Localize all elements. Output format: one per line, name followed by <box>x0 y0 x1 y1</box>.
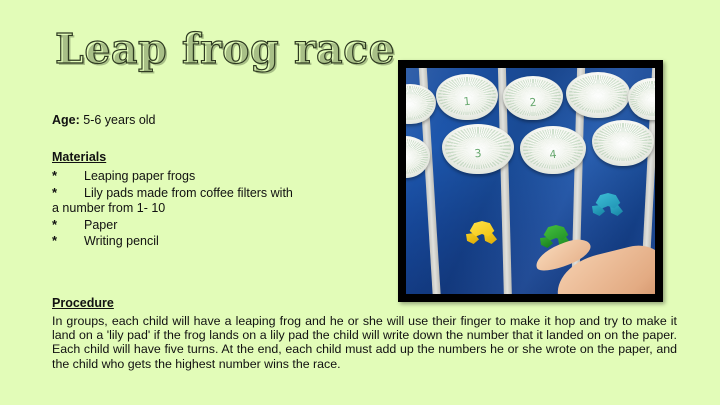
lily-pad-number: 2 <box>503 93 563 112</box>
list-item: * Lily pads made from coffee filters wit… <box>52 186 382 217</box>
content-column: Age: 5-6 years old Materials * Leaping p… <box>52 112 382 251</box>
age-label: Age: <box>52 113 80 127</box>
activity-photo: 1 2 3 4 <box>406 68 655 294</box>
list-item-text: Lily pads made from coffee filters with <box>84 186 293 200</box>
bullet-icon: * <box>52 233 57 249</box>
lily-pad-number: 1 <box>436 92 498 111</box>
list-item-text: Writing pencil <box>84 234 159 248</box>
lily-pad: 4 <box>520 126 586 174</box>
list-item: * Leaping paper frogs <box>52 169 382 185</box>
lily-pad: 3 <box>442 124 514 174</box>
list-item-text: Paper <box>84 218 117 232</box>
lily-pad: 1 <box>436 74 498 120</box>
age-line: Age: 5-6 years old <box>52 112 382 128</box>
lily-pad <box>566 72 630 118</box>
lily-pad: 2 <box>503 76 563 120</box>
lily-pad-number: 3 <box>442 143 514 163</box>
bullet-icon: * <box>52 168 57 184</box>
materials-list: * Leaping paper frogs * Lily pads made f… <box>52 169 382 250</box>
bullet-icon: * <box>52 185 57 201</box>
age-value: 5-6 years old <box>80 113 156 127</box>
list-item: * Paper <box>52 218 382 234</box>
procedure-section: Procedure In groups, each child will hav… <box>52 296 677 371</box>
bullet-icon: * <box>52 217 57 233</box>
paper-frog-blue <box>592 192 626 218</box>
paper-frog-yellow <box>466 220 500 246</box>
photo-frame: 1 2 3 4 <box>398 60 663 302</box>
lily-pad-number: 4 <box>520 145 586 165</box>
materials-heading: Materials <box>52 150 382 165</box>
procedure-text: In groups, each child will have a leapin… <box>52 314 677 371</box>
lily-pad <box>592 120 654 166</box>
list-item-text: Leaping paper frogs <box>84 169 195 183</box>
list-item: * Writing pencil <box>52 234 382 250</box>
list-item-text-wrap: a number from 1- 10 <box>52 201 382 217</box>
slide-canvas: Leap frog race Age: 5-6 years old Materi… <box>0 0 720 405</box>
page-title: Leap frog race <box>55 24 395 74</box>
childs-hand <box>534 236 655 294</box>
